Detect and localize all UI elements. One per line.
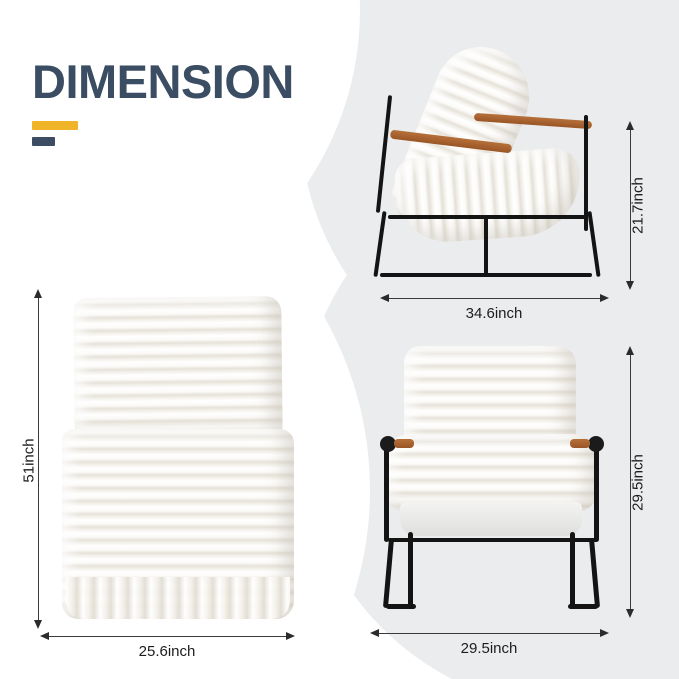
cushion-set xyxy=(62,297,294,619)
chair-side-frame-leg-left xyxy=(373,211,386,277)
cushion-back xyxy=(73,296,282,440)
chair-front-frame-post-right xyxy=(594,438,599,542)
chair-front-armrest-knob-right xyxy=(588,436,604,452)
measurement-label-chair-front-height: 29.5inch xyxy=(630,445,647,521)
chair-side-frame-stretcher xyxy=(484,217,488,275)
chair-front-frame-cross-rail xyxy=(388,538,598,542)
chair-side-seat-cushion xyxy=(393,147,584,246)
page-title: DIMENSION xyxy=(32,58,294,105)
chair-front-frame-post-left xyxy=(384,438,389,542)
chair-front-frame-leg-right xyxy=(570,532,575,608)
accent-chair-side-view xyxy=(370,35,615,285)
chair-side-frame-leg-right xyxy=(587,211,600,277)
chair-side-frame-back-post xyxy=(376,95,392,213)
chair-front-frame-leg-left xyxy=(408,532,413,608)
chair-front-armrest-wood-right xyxy=(570,439,590,448)
chair-front-frame-runner-left xyxy=(383,538,394,608)
measurement-label-chair-side-height: 21.7inch xyxy=(630,168,647,244)
chair-side-frame-rail xyxy=(388,215,588,219)
measurement-label-chair-side-width: 34.6inch xyxy=(388,305,600,322)
chair-front-seat-cushion xyxy=(384,434,598,512)
dimension-infographic: DIMENSION 51inch 25.6inch xyxy=(0,0,679,679)
accent-bar-yellow xyxy=(32,121,78,130)
chair-front-frame-runner-right xyxy=(589,538,600,608)
chair-side-armrest-post-front xyxy=(584,115,588,139)
cushion-bottom-fluff xyxy=(66,577,290,619)
chair-front-sling-base xyxy=(400,502,582,536)
measurement-label-chair-front-width: 29.5inch xyxy=(378,640,600,657)
chair-front-armrest-wood-left xyxy=(394,439,414,448)
measurement-label-cushion-height: 51inch xyxy=(21,423,38,499)
title-block: DIMENSION xyxy=(32,58,294,146)
chair-front-frame-floor-left xyxy=(386,604,416,609)
accent-bar-navy xyxy=(32,137,55,146)
accent-chair-front-view xyxy=(372,346,612,618)
measurement-label-cushion-width: 25.6inch xyxy=(48,643,286,660)
chair-front-frame-floor-right xyxy=(568,604,598,609)
